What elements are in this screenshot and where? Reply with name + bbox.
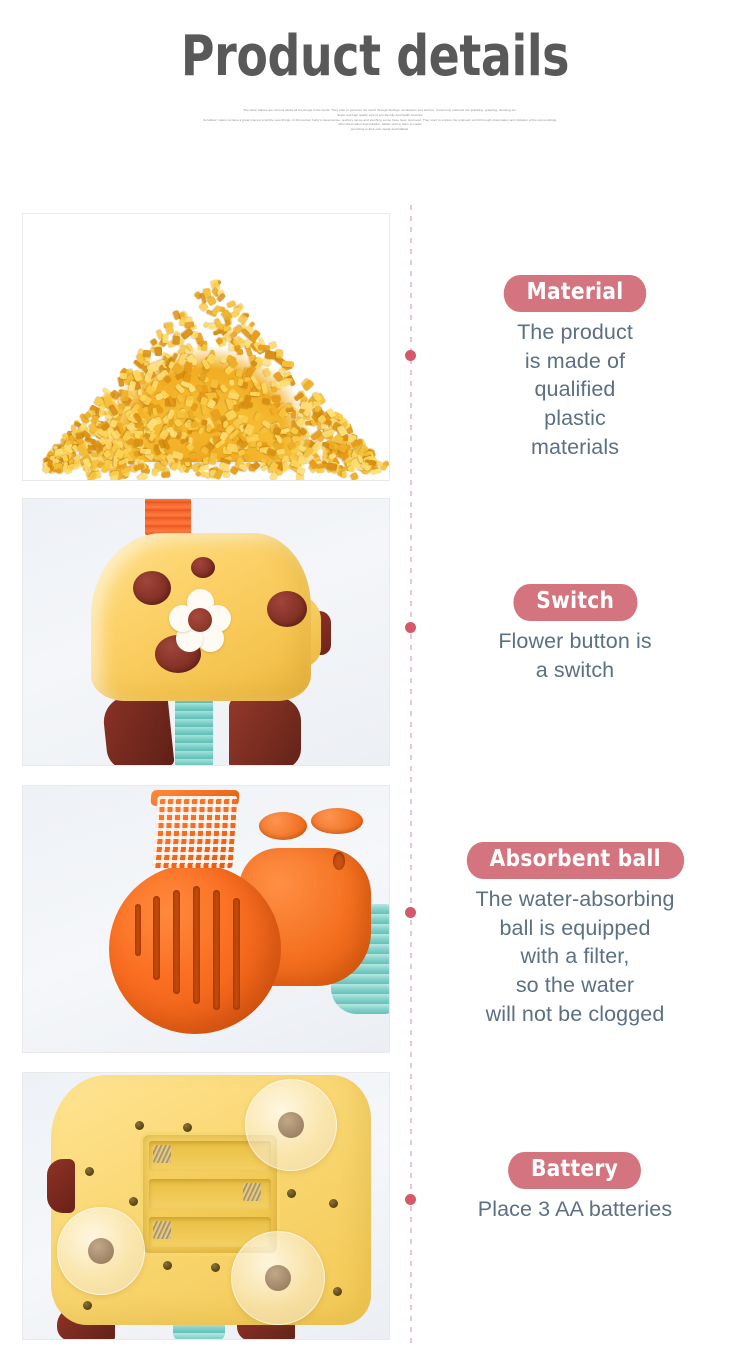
suction-cup — [245, 1079, 337, 1171]
photo-material-art — [23, 214, 389, 480]
description-line: Place 3 AA batteries — [420, 1195, 730, 1224]
battery-spring — [153, 1145, 171, 1163]
description-switch: Flower button is a switch — [420, 627, 730, 684]
description-line: Flower button is — [420, 627, 730, 656]
description-line: ball is equipped — [420, 914, 730, 943]
section-material: Material The product is made of qualifie… — [0, 213, 750, 481]
screw-icon — [129, 1197, 138, 1206]
mesh-filter — [152, 796, 237, 868]
teal-ribbed-tube — [175, 695, 213, 765]
photo-battery — [22, 1072, 390, 1340]
photo-absorbent-ball — [22, 785, 390, 1053]
badge-absorbent-ball: Absorbent ball — [467, 842, 684, 879]
absorbent-ball-slot — [233, 898, 240, 1010]
photo-material — [22, 213, 390, 481]
screw-icon — [211, 1263, 220, 1272]
suction-cup — [57, 1207, 145, 1295]
screw-icon — [83, 1301, 92, 1310]
description-line: The product — [420, 318, 730, 347]
photo-switch — [22, 498, 390, 766]
description-line: will not be clogged — [420, 1000, 730, 1029]
text-absorbent-ball: Absorbent ball The water-absorbing ball … — [420, 842, 730, 1028]
text-switch: Switch Flower button is a switch — [420, 584, 730, 684]
description-line: materials — [420, 433, 730, 462]
text-battery: Battery Place 3 AA batteries — [420, 1152, 730, 1224]
absorbent-ball-hole — [333, 852, 345, 870]
section-switch: Switch Flower button is a switch — [0, 498, 750, 766]
description-line: plastic — [420, 404, 730, 433]
description-line: so the water — [420, 971, 730, 1000]
description-line: qualified — [420, 375, 730, 404]
screw-icon — [287, 1189, 296, 1198]
suction-cup — [231, 1231, 325, 1325]
flower-switch-button[interactable] — [169, 589, 231, 651]
description-line: The water-absorbing — [420, 885, 730, 914]
absorbent-ball-slot — [135, 904, 141, 956]
page-title: Product details — [68, 28, 683, 87]
absorbent-ball-bump — [311, 808, 363, 834]
description-line: a switch — [420, 656, 730, 685]
screw-icon — [163, 1261, 172, 1270]
section-absorbent-ball: Absorbent ball The water-absorbing ball … — [0, 785, 750, 1053]
section-battery: Battery Place 3 AA batteries — [0, 1072, 750, 1340]
intro-paragraph: The basic babies are curious about all t… — [120, 108, 640, 132]
giraffe-spot — [267, 591, 307, 627]
product-details-page: Product details The basic babies are cur… — [0, 0, 750, 1365]
flower-center — [188, 608, 212, 632]
giraffe-spot — [191, 557, 215, 578]
photo-switch-art — [23, 499, 389, 765]
screw-icon — [333, 1287, 342, 1296]
screw-icon — [183, 1123, 192, 1132]
badge-battery: Battery — [509, 1152, 642, 1189]
battery-spring — [243, 1183, 261, 1201]
screw-icon — [329, 1199, 338, 1208]
description-line: is made of — [420, 347, 730, 376]
giraffe-neck-tube — [145, 499, 191, 535]
description-absorbent-ball: The water-absorbing ball is equipped wit… — [420, 885, 730, 1028]
giraffe-ear — [47, 1159, 75, 1213]
absorbent-ball-slot — [173, 890, 180, 994]
battery-spring — [153, 1221, 171, 1239]
badge-switch: Switch — [513, 584, 637, 621]
badge-material: Material — [504, 275, 647, 312]
photo-battery-art — [23, 1073, 389, 1339]
page-header: Product details The basic babies are cur… — [0, 0, 750, 200]
description-battery: Place 3 AA batteries — [420, 1195, 730, 1224]
screw-icon — [85, 1167, 94, 1176]
text-material: Material The product is made of qualifie… — [420, 275, 730, 461]
screw-icon — [135, 1121, 144, 1130]
absorbent-ball-slot — [213, 890, 220, 1010]
giraffe-leg-right — [229, 697, 301, 765]
description-material: The product is made of qualified plastic… — [420, 318, 730, 461]
giraffe-spot — [133, 571, 171, 605]
absorbent-ball-bump — [259, 812, 307, 840]
absorbent-ball-slot — [153, 896, 160, 980]
description-line: with a filter, — [420, 942, 730, 971]
intro-line: according to their own needs and habitat… — [120, 127, 640, 132]
photo-absorbent-ball-art — [23, 786, 389, 1052]
absorbent-ball-slot — [193, 886, 200, 1004]
giraffe-leg-left — [101, 692, 174, 765]
